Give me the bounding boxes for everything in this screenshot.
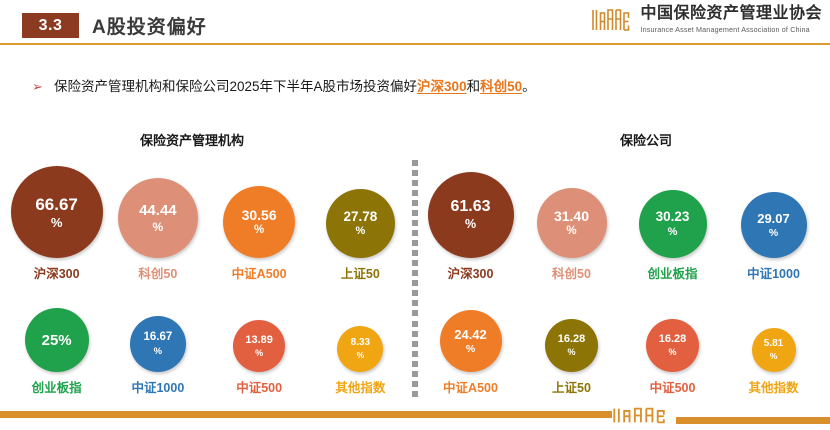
bubble-item[interactable]: 16.67%中证1000: [107, 288, 208, 400]
bullet-arrow-icon: ➢: [32, 78, 44, 96]
bubble-item[interactable]: 61.63%沪深300: [420, 160, 521, 288]
bubble-circle[interactable]: 8.33%: [337, 326, 383, 372]
bubble-item[interactable]: 66.67%沪深300: [6, 160, 107, 288]
panel-title-right: 保险公司: [620, 130, 672, 149]
divider-dot: [412, 220, 418, 226]
bullet-text: 保险资产管理机构和保险公司2025年下半年A股市场投资偏好沪深300和科创50。: [54, 78, 536, 96]
divider-dot: [412, 300, 418, 306]
bubble-row: 24.42%中证A50016.28%上证5016.28%中证5005.81%其他…: [420, 288, 824, 400]
bubble-circle[interactable]: 31.40%: [537, 188, 607, 258]
bubble-label: 创业板指: [647, 263, 697, 282]
bubble-value: 24.42: [454, 328, 487, 341]
bubble-unit: %: [566, 226, 576, 238]
bubble-chart-left: 66.67%沪深30044.44%科创5030.56%中证A50027.78%上…: [6, 160, 411, 400]
bubble-unit: %: [465, 218, 476, 231]
bubble-row: 66.67%沪深30044.44%科创5030.56%中证A50027.78%上…: [6, 160, 411, 288]
bubble-label: 沪深300: [34, 263, 80, 282]
bubble-item[interactable]: 29.07%中证1000: [723, 160, 824, 288]
bubble-unit: %: [668, 227, 678, 238]
bubble-circle[interactable]: 30.56%: [223, 186, 295, 258]
bubble-unit: %: [154, 347, 162, 357]
bubble-circle[interactable]: 29.07%: [741, 192, 807, 258]
divider-dot: [412, 321, 418, 327]
bubble-circle[interactable]: 16.67%: [130, 316, 186, 372]
divider-dot: [412, 160, 418, 166]
bubble-item[interactable]: 27.78%上证50: [310, 160, 411, 288]
bullet-highlight-1: 沪深300: [417, 79, 467, 94]
bubble-label: 中证A500: [232, 263, 287, 282]
bubble-circle[interactable]: 44.44%: [118, 178, 198, 258]
bubble-circle[interactable]: 13.89%: [233, 320, 285, 372]
bullet-highlight-2: 科创50: [480, 79, 522, 94]
bubble-item[interactable]: 44.44%科创50: [107, 160, 208, 288]
logo-name-en: Insurance Asset Management Association o…: [640, 25, 822, 34]
bubble-value: 16.28: [558, 334, 586, 345]
bubble-item[interactable]: 30.23%创业板指: [622, 160, 723, 288]
panel-title-left: 保险资产管理机构: [140, 130, 244, 149]
bubble-circle[interactable]: 30.23%: [639, 190, 707, 258]
bubble-circle[interactable]: 27.78%: [326, 189, 395, 258]
page-title: A股投资偏好: [92, 12, 207, 39]
footer-bar-left: [0, 411, 612, 418]
bubble-value: 16.28: [659, 334, 687, 345]
bubble-label: 中证1000: [747, 263, 800, 282]
divider-dot: [412, 351, 418, 357]
bubble-unit: %: [769, 228, 778, 239]
bubble-label: 科创50: [552, 263, 591, 282]
divider-dot: [412, 331, 418, 337]
slide-footer: [0, 409, 830, 430]
slide-header: 3.3 A股投资偏好: [0, 0, 830, 44]
bubble-unit: %: [255, 349, 263, 358]
bubble-label: 中证500: [236, 377, 282, 396]
divider-dot: [412, 190, 418, 196]
divider-dot: [412, 240, 418, 246]
bullet-conjunction: 和: [467, 79, 481, 94]
bubble-row: 61.63%沪深30031.40%科创5030.23%创业板指29.07%中证1…: [420, 160, 824, 288]
iamac-footer-logo-icon: [612, 407, 676, 424]
bubble-value: 31.40: [554, 209, 589, 223]
bubble-circle[interactable]: 66.67%: [11, 166, 103, 258]
bubble-value: 30.23: [656, 210, 690, 224]
bubble-circle[interactable]: 61.63%: [428, 172, 514, 258]
bubble-unit: %: [51, 216, 63, 229]
bubble-label: 中证1000: [131, 377, 184, 396]
bubble-value: 30.56: [242, 208, 277, 222]
bubble-item[interactable]: 8.33%其他指数: [310, 288, 411, 400]
slide-root: 3.3 A股投资偏好: [0, 0, 830, 430]
bubble-value: 16.67: [143, 332, 172, 344]
bubble-item[interactable]: 30.56%中证A500: [209, 160, 310, 288]
bubble-unit: %: [668, 348, 676, 357]
bullet-period: 。: [522, 79, 536, 94]
bubble-circle[interactable]: 24.42%: [440, 310, 502, 372]
bubble-unit: %: [355, 226, 365, 237]
bubble-label: 其他指数: [748, 377, 798, 396]
divider-dot: [412, 200, 418, 206]
bullet-text-part1: 保险资产管理机构和保险公司2025年下半年A股市场投资偏好: [54, 79, 417, 94]
bubble-value: 29.07: [757, 212, 790, 225]
bullet-point: ➢ 保险资产管理机构和保险公司2025年下半年A股市场投资偏好沪深300和科创5…: [32, 78, 536, 96]
bubble-label: 创业板指: [32, 377, 82, 396]
divider-dot: [412, 260, 418, 266]
divider-dot: [412, 310, 418, 316]
bubble-unit: %: [770, 352, 778, 361]
bubble-label: 其他指数: [335, 377, 385, 396]
bubble-row: 25%创业板指16.67%中证100013.89%中证5008.33%其他指数: [6, 288, 411, 400]
bubble-label: 上证50: [552, 377, 591, 396]
bubble-value: 8.33: [351, 338, 370, 348]
divider-dot: [412, 341, 418, 347]
divider-dot: [412, 210, 418, 216]
divider-dot: [412, 170, 418, 176]
bubble-unit: %: [466, 344, 475, 355]
bubble-label: 中证500: [650, 377, 696, 396]
bubble-circle[interactable]: 25%: [25, 308, 89, 372]
bubble-unit: %: [153, 221, 164, 233]
association-logo: 中国保险资产管理业协会 Insurance Asset Management A…: [591, 6, 822, 34]
divider-dot: [412, 290, 418, 296]
bubble-item[interactable]: 5.81%其他指数: [723, 288, 824, 400]
bubble-item[interactable]: 24.42%中证A500: [420, 288, 521, 400]
bubble-label: 科创50: [138, 263, 177, 282]
footer-bar-right: [676, 417, 830, 424]
iamac-logo-mark-icon: [591, 8, 633, 32]
bubble-unit: %: [567, 348, 575, 357]
divider-dot: [412, 250, 418, 256]
divider-dot: [412, 270, 418, 276]
bubble-value: 27.78: [343, 210, 377, 224]
divider-dot: [412, 381, 418, 387]
bubble-value: 13.89: [245, 335, 273, 346]
bubble-value: 66.67: [35, 196, 78, 213]
bubble-circle[interactable]: 16.28%: [646, 319, 699, 372]
divider-dot: [412, 371, 418, 377]
bubble-circle[interactable]: 5.81%: [752, 328, 796, 372]
bubble-value: 5.81: [764, 339, 783, 349]
bubble-unit: %: [357, 351, 365, 360]
logo-name-cn: 中国保险资产管理业协会: [640, 6, 822, 23]
bubble-item[interactable]: 31.40%科创50: [521, 160, 622, 288]
bubble-item[interactable]: 16.28%中证500: [622, 288, 723, 400]
divider-dot: [412, 361, 418, 367]
bubble-item[interactable]: 16.28%上证50: [521, 288, 622, 400]
bubble-label: 上证50: [341, 263, 380, 282]
bubble-value: 61.63: [450, 199, 490, 215]
bubble-label: 沪深300: [448, 263, 494, 282]
bubble-label: 中证A500: [443, 377, 498, 396]
bubble-value: 44.44: [139, 203, 177, 218]
bubble-item[interactable]: 25%创业板指: [6, 288, 107, 400]
header-divider-rule: [0, 43, 830, 45]
section-number-badge: 3.3: [22, 13, 79, 38]
bubble-item[interactable]: 13.89%中证500: [209, 288, 310, 400]
divider-dot: [412, 280, 418, 286]
bubble-value: 25%: [42, 333, 72, 348]
divider-dot: [412, 230, 418, 236]
bubble-circle[interactable]: 16.28%: [545, 319, 598, 372]
divider-dot: [412, 391, 418, 397]
bubble-unit: %: [254, 225, 264, 237]
divider-dot: [412, 180, 418, 186]
bubble-chart-right: 61.63%沪深30031.40%科创5030.23%创业板指29.07%中证1…: [420, 160, 824, 400]
panel-divider: [411, 160, 418, 397]
